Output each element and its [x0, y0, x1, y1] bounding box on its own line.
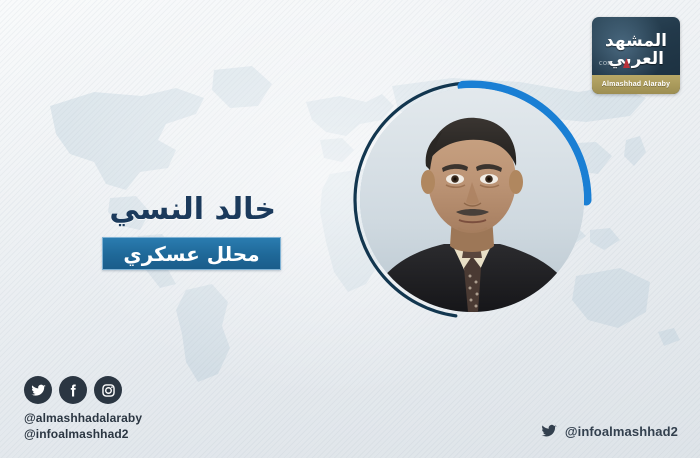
facebook-icon[interactable]	[59, 376, 87, 404]
footer-twitter-handle: @infoalmashhad2	[540, 422, 678, 440]
guest-name: خالد النسي	[0, 193, 276, 226]
social-icon-row	[24, 376, 142, 404]
guest-photo	[360, 88, 584, 312]
broadcast-lower-third-card: المشهد العربي COM Almashhad Alaraby	[0, 0, 700, 458]
instagram-icon[interactable]	[94, 376, 122, 404]
logo-dotcom-text: COM	[599, 61, 612, 67]
handle-secondary: @infoalmashhad2	[24, 426, 142, 442]
footer-handle-text: @infoalmashhad2	[565, 424, 678, 439]
logo-arabic-line-1: المشهد	[592, 32, 680, 50]
guest-role-badge: محلل عسكري	[102, 237, 281, 270]
handle-primary: @almashhadalaraby	[24, 410, 142, 426]
social-block: @almashhadalaraby @infoalmashhad2	[24, 376, 142, 442]
logo-latin-bar: Almashhad Alaraby	[592, 75, 680, 94]
guest-role-label: محلل عسكري	[123, 244, 259, 264]
channel-logo: المشهد العربي COM Almashhad Alaraby	[592, 17, 680, 94]
twitter-bird-icon	[540, 422, 558, 440]
social-handles: @almashhadalaraby @infoalmashhad2	[24, 410, 142, 442]
twitter-icon[interactable]	[24, 376, 52, 404]
guest-portrait	[348, 76, 596, 324]
logo-latin-text: Almashhad Alaraby	[602, 81, 671, 88]
